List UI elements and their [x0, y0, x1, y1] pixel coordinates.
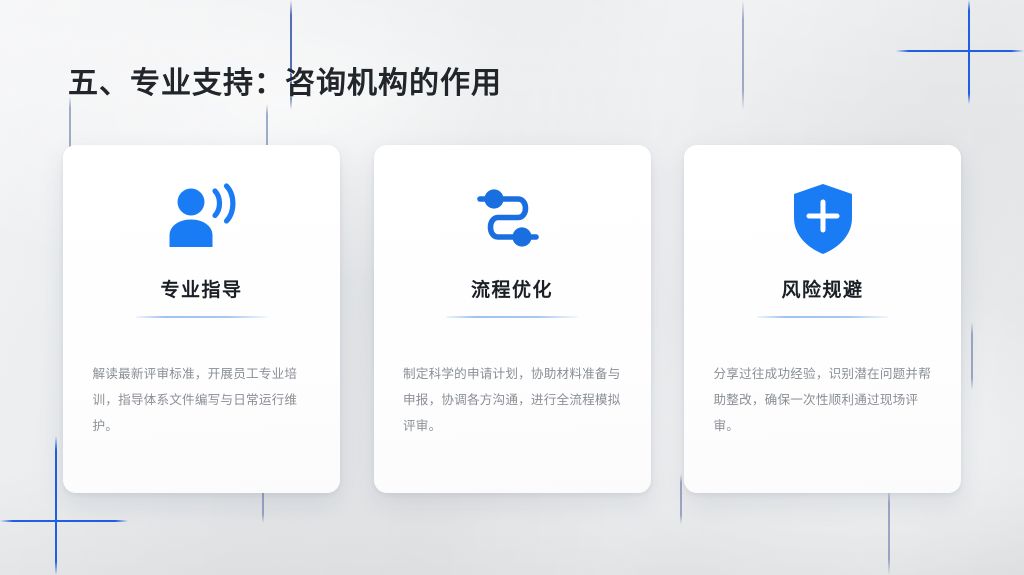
deco-vline-topright-vertical: [968, 0, 970, 104]
shield-plus-icon: [790, 181, 856, 257]
feature-card-title: 流程优化: [471, 275, 553, 302]
feature-card-row: 专业指导 解读最新评审标准，开展员工专业培训，指导体系文件编写与日常运行维护。 …: [63, 145, 961, 493]
feature-card-body: 制定科学的申请计划，协助材料准备与申报，协调各方沟通，进行全流程模拟评审。: [403, 362, 621, 439]
deco-vline-mid-right: [971, 322, 973, 390]
feature-card-body: 分享过往成功经验，识别潜在问题并帮助整改，确保一次性顺利通过现场评审。: [714, 362, 932, 439]
feature-card-risk-avoidance[interactable]: 风险规避 分享过往成功经验，识别潜在问题并帮助整改，确保一次性顺利通过现场评审。: [684, 145, 961, 493]
feature-card-professional-guidance[interactable]: 专业指导 解读最新评审标准，开展员工专业培训，指导体系文件编写与日常运行维护。: [63, 145, 340, 493]
feature-card-divider: [136, 316, 268, 318]
feature-card-title: 专业指导: [160, 275, 242, 302]
feature-card-divider: [446, 316, 578, 318]
deco-vline-bottom-card3: [888, 487, 890, 575]
deco-hline-bottomleft-horizontal: [0, 520, 128, 522]
feature-card-title: 风险规避: [781, 275, 863, 302]
deco-vline-card2-top: [742, 0, 744, 110]
deco-vline-bottomleft-vertical: [55, 436, 57, 575]
person-speaking-icon: [165, 181, 239, 257]
process-flow-icon: [474, 181, 550, 257]
feature-card-divider: [757, 316, 889, 318]
feature-card-body: 解读最新评审标准，开展员工专业培训，指导体系文件编写与日常运行维护。: [93, 362, 311, 439]
slide-canvas: 五、专业支持：咨询机构的作用 专业指导 解读最新评审标准，开展员工专业培训，指导…: [0, 0, 1024, 575]
deco-hline-topright-horizontal: [896, 50, 1024, 52]
slide-title: 五、专业支持：咨询机构的作用: [68, 58, 502, 102]
feature-card-process-optimization[interactable]: 流程优化 制定科学的申请计划，协助材料准备与申报，协调各方沟通，进行全流程模拟评…: [374, 145, 651, 493]
